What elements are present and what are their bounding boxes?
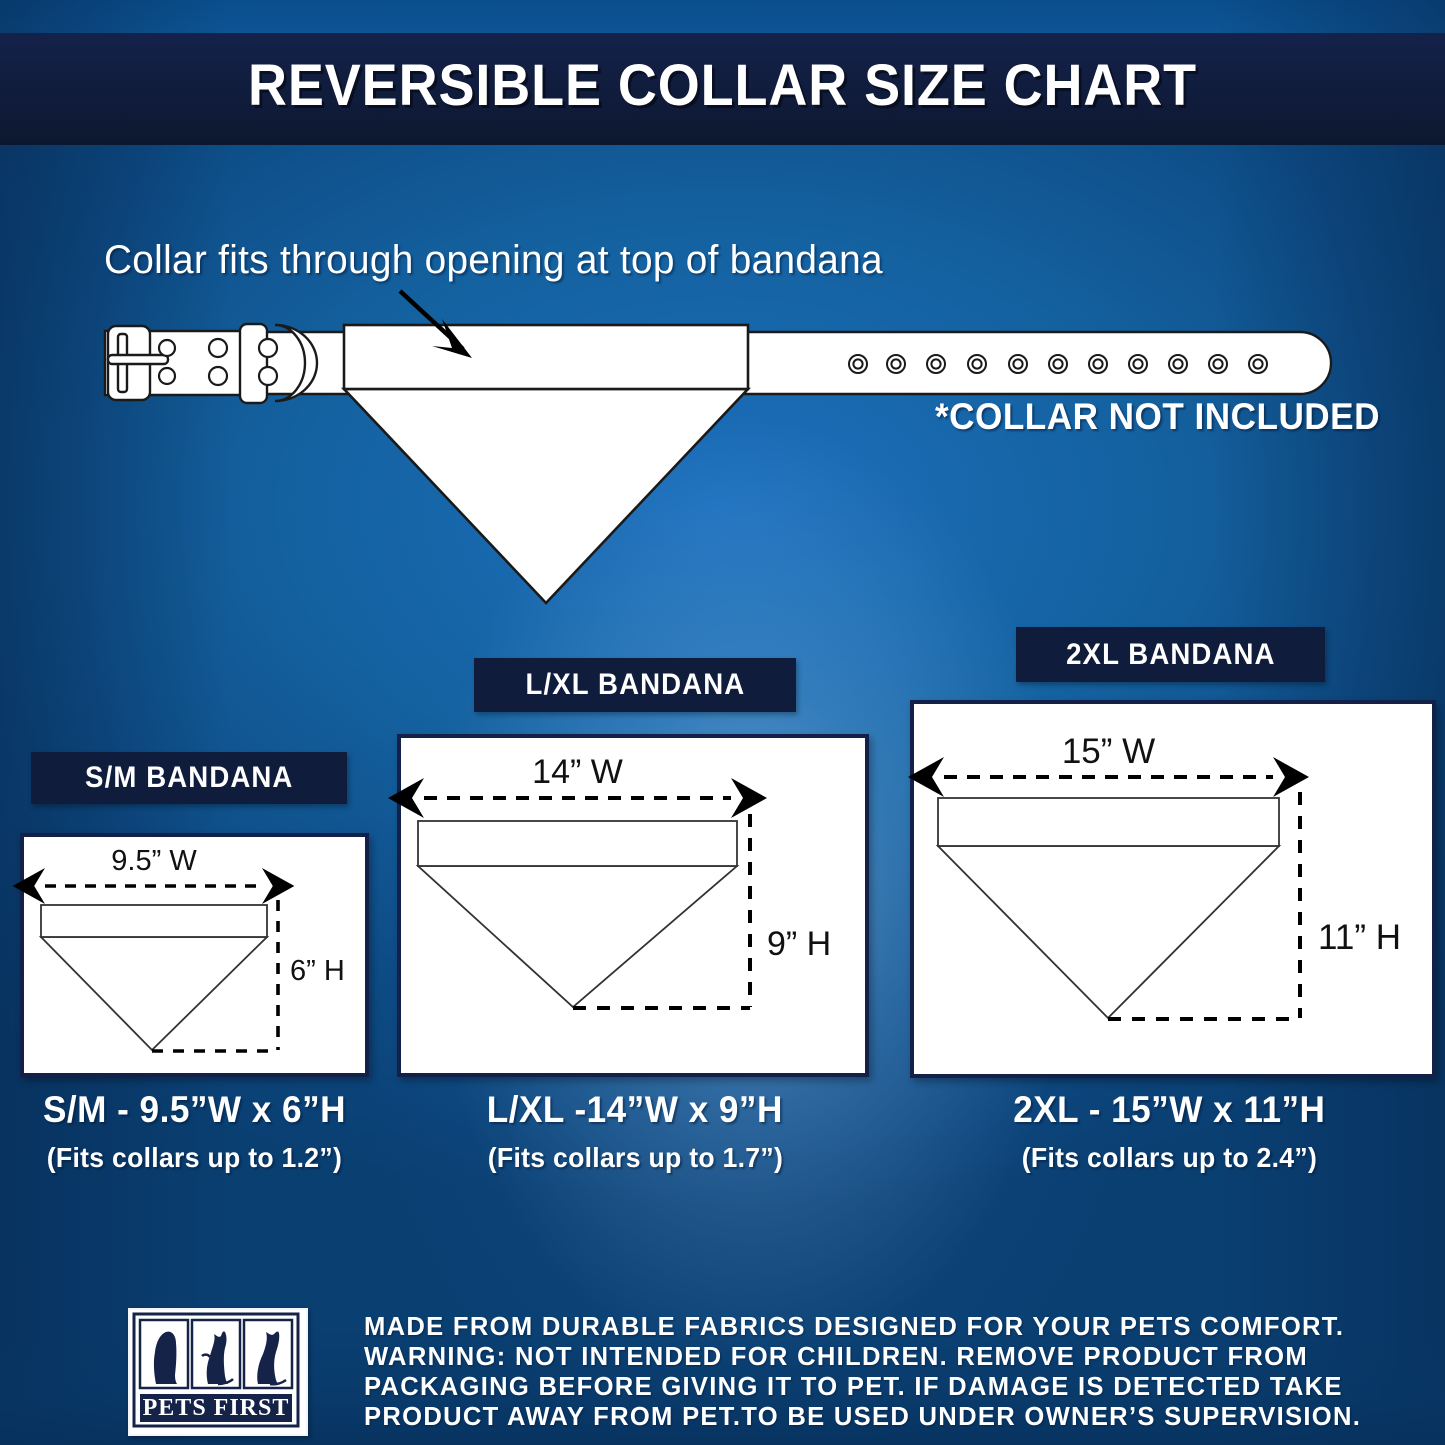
dimension-height-sm: 6” H bbox=[290, 955, 345, 988]
logo-art: PETS FIRST bbox=[130, 1310, 302, 1430]
page-title: REVERSIBLE COLLAR SIZE CHART bbox=[51, 52, 1395, 119]
caption-sub-lxl-text: (Fits collars up to 1.7”) bbox=[487, 1142, 782, 1174]
size-banner-sm: S/M BANDANA bbox=[31, 752, 347, 804]
logo-wordmark: PETS FIRST bbox=[143, 1395, 290, 1421]
caption-title-sm: S/M - 9.5”W x 6”H bbox=[0, 1089, 388, 1131]
caption-title-lxl-text: L/XL -14”W x 9”H bbox=[487, 1089, 783, 1131]
size-banner-2xl-label: 2XL BANDANA bbox=[1066, 638, 1275, 672]
caption-sub-lxl: (Fits collars up to 1.7”) bbox=[400, 1142, 870, 1174]
disclaimer-line-3: PACKAGING BEFORE GIVING IT TO PET. IF DA… bbox=[364, 1371, 1334, 1401]
caption-title-2xl: 2XL - 15”W x 11”H bbox=[905, 1089, 1433, 1131]
size-banner-lxl: L/XL BANDANA bbox=[474, 658, 796, 712]
dimension-height-lxl: 9” H bbox=[767, 925, 831, 964]
caption-sub-sm: (Fits collars up to 1.2”) bbox=[0, 1142, 388, 1174]
dimension-height-2xl: 11” H bbox=[1318, 918, 1401, 958]
dimension-width-lxl: 14” W bbox=[418, 753, 737, 792]
disclaimer-line-2: WARNING: NOT INTENDED FOR CHILDREN. REMO… bbox=[364, 1341, 1334, 1371]
collar-note-text: Collar fits through opening at top of ba… bbox=[104, 238, 883, 283]
caption-title-lxl: L/XL -14”W x 9”H bbox=[400, 1089, 870, 1131]
dimension-width-sm: 9.5” W bbox=[41, 845, 267, 878]
caption-title-2xl-text: 2XL - 15”W x 11”H bbox=[1013, 1089, 1325, 1131]
caption-title-sm-text: S/M - 9.5”W x 6”H bbox=[42, 1089, 345, 1131]
size-banner-2xl: 2XL BANDANA bbox=[1016, 627, 1325, 682]
caption-sub-2xl: (Fits collars up to 2.4”) bbox=[905, 1142, 1433, 1174]
collar-not-included-label: *COLLAR NOT INCLUDED bbox=[935, 396, 1380, 438]
disclaimer-line-1: MADE FROM DURABLE FABRICS DESIGNED FOR Y… bbox=[364, 1311, 1334, 1341]
size-banner-sm-label: S/M BANDANA bbox=[85, 761, 293, 795]
background-vignette-left bbox=[0, 0, 230, 1445]
caption-sub-sm-text: (Fits collars up to 1.2”) bbox=[46, 1142, 341, 1174]
pets-first-logo: PETS FIRST bbox=[128, 1308, 308, 1436]
size-banner-lxl-label: L/XL BANDANA bbox=[525, 668, 745, 702]
caption-sub-2xl-text: (Fits collars up to 2.4”) bbox=[1021, 1142, 1316, 1174]
disclaimer-line-4: PRODUCT AWAY FROM PET.TO BE USED UNDER O… bbox=[364, 1401, 1334, 1431]
footer-disclaimer: MADE FROM DURABLE FABRICS DESIGNED FOR Y… bbox=[364, 1311, 1349, 1431]
dimension-width-2xl: 15” W bbox=[938, 732, 1279, 772]
